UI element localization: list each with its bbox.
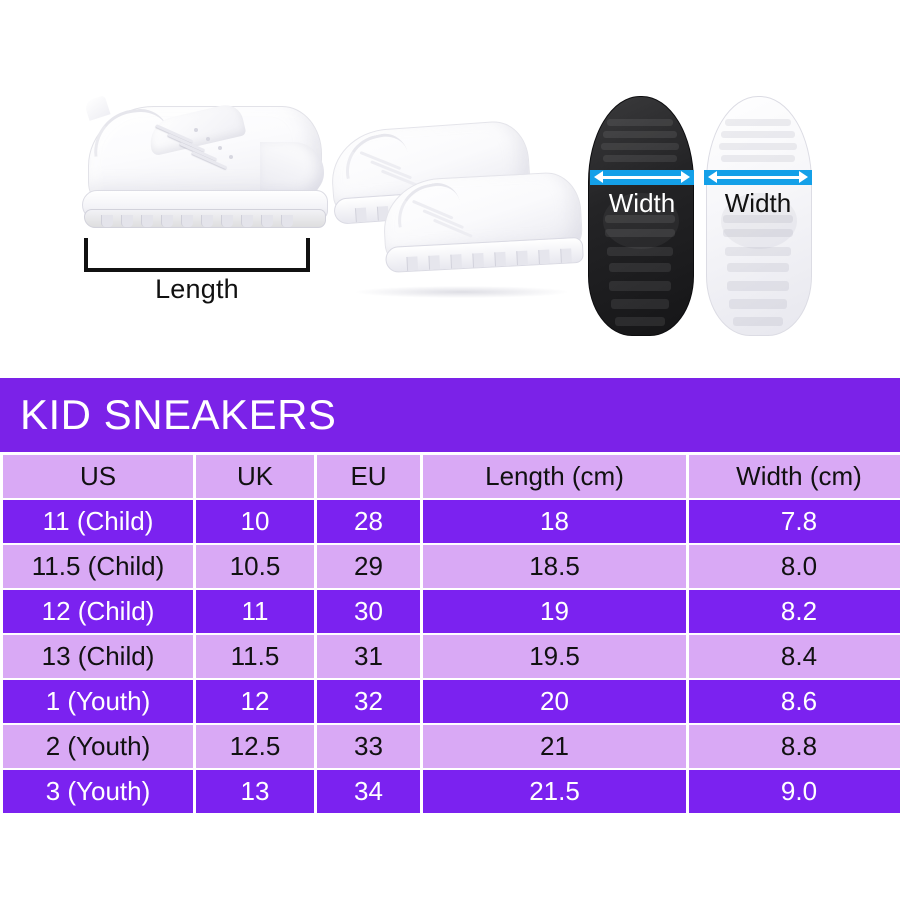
cell-length: 19.5 [423, 635, 686, 678]
cell-eu: 28 [317, 500, 420, 543]
cell-uk: 12.5 [196, 725, 314, 768]
chart-title-bar: KID SNEAKERS [0, 378, 900, 452]
pair-drop-shadow [356, 286, 568, 298]
cell-width: 8.4 [689, 635, 900, 678]
chart-title: KID SNEAKERS [20, 391, 336, 439]
sneaker-side-illustration [82, 102, 326, 234]
width-arrow-dark-icon [590, 170, 694, 185]
cell-width: 8.8 [689, 725, 900, 768]
cell-us: 11.5 (Child) [3, 545, 193, 588]
cell-length: 21 [423, 725, 686, 768]
cell-eu: 31 [317, 635, 420, 678]
sneaker-front-illustration [381, 171, 582, 285]
cell-length: 18.5 [423, 545, 686, 588]
length-measurement-bracket [84, 238, 310, 272]
size-table: US UK EU Length (cm) Width (cm) 11 (Chil… [0, 453, 900, 815]
cell-width: 9.0 [689, 770, 900, 813]
cell-us: 2 (Youth) [3, 725, 193, 768]
cell-us: 13 (Child) [3, 635, 193, 678]
cell-width: 8.6 [689, 680, 900, 723]
cell-us: 1 (Youth) [3, 680, 193, 723]
figure-sneaker-pair [332, 104, 590, 314]
table-row: 13 (Child) 11.5 31 19.5 8.4 [3, 635, 900, 678]
cell-us: 12 (Child) [3, 590, 193, 633]
column-header-width: Width (cm) [689, 455, 900, 498]
shoe-eyelet [218, 146, 222, 150]
cell-width: 8.0 [689, 545, 900, 588]
column-header-us: US [3, 455, 193, 498]
column-header-eu: EU [317, 455, 420, 498]
cell-width: 7.8 [689, 500, 900, 543]
cell-uk: 11 [196, 590, 314, 633]
cell-eu: 34 [317, 770, 420, 813]
cell-eu: 29 [317, 545, 420, 588]
cell-uk: 13 [196, 770, 314, 813]
column-header-length: Length (cm) [423, 455, 686, 498]
cell-eu: 33 [317, 725, 420, 768]
column-header-uk: UK [196, 455, 314, 498]
width-label-dark: Width [584, 188, 700, 219]
table-row: 12 (Child) 11 30 19 8.2 [3, 590, 900, 633]
table-row: 11 (Child) 10 28 18 7.8 [3, 500, 900, 543]
shoe-heel-tab [83, 95, 110, 121]
cell-length: 20 [423, 680, 686, 723]
shoe-toecap [260, 142, 324, 196]
cell-length: 18 [423, 500, 686, 543]
size-chart: KID SNEAKERS US UK EU Length (cm) Width … [0, 378, 900, 815]
table-row: 11.5 (Child) 10.5 29 18.5 8.0 [3, 545, 900, 588]
cell-uk: 12 [196, 680, 314, 723]
cell-us: 11 (Child) [3, 500, 193, 543]
shoe-eyelet [194, 128, 198, 132]
table-row: 1 (Youth) 12 32 20 8.6 [3, 680, 900, 723]
shoe-eyelet [206, 137, 210, 141]
cell-eu: 32 [317, 680, 420, 723]
length-label: Length [70, 274, 324, 305]
table-row: 2 (Youth) 12.5 33 21 8.8 [3, 725, 900, 768]
shoe-eyelet [229, 155, 233, 159]
table-header-row: US UK EU Length (cm) Width (cm) [3, 455, 900, 498]
cell-uk: 10.5 [196, 545, 314, 588]
table-row: 3 (Youth) 13 34 21.5 9.0 [3, 770, 900, 813]
cell-length: 21.5 [423, 770, 686, 813]
width-label-light: Width [700, 188, 816, 219]
cell-length: 19 [423, 590, 686, 633]
cell-eu: 30 [317, 590, 420, 633]
figure-side-view: Length [70, 96, 340, 306]
cell-width: 8.2 [689, 590, 900, 633]
cell-us: 3 (Youth) [3, 770, 193, 813]
cell-uk: 11.5 [196, 635, 314, 678]
figure-sole-views: Width Width [588, 96, 818, 334]
shoe-outsole [84, 209, 326, 228]
size-table-body: 11 (Child) 10 28 18 7.8 11.5 (Child) 10.… [3, 500, 900, 813]
cell-uk: 10 [196, 500, 314, 543]
width-arrow-light-icon [704, 170, 812, 185]
product-image-band: Length [0, 0, 900, 378]
